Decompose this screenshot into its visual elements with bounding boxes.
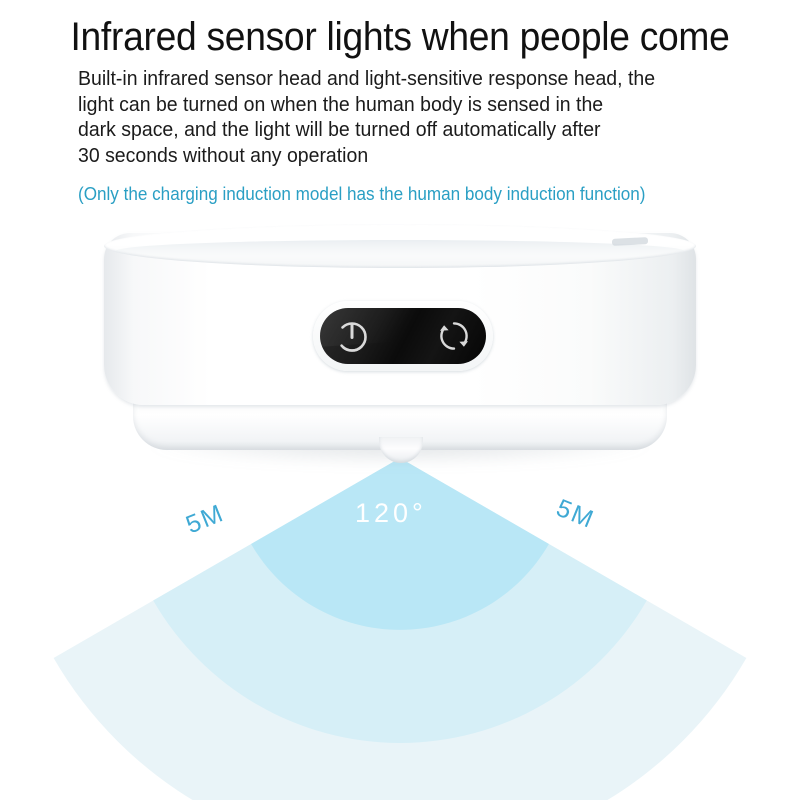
refresh-cycle-icon: [433, 315, 475, 357]
middle-zone-sector: [153, 458, 647, 743]
description-paragraph: Built-in infrared sensor head and light-…: [78, 66, 734, 168]
power-button[interactable]: [331, 315, 373, 357]
device-top-rim: [104, 224, 696, 268]
device-base: [133, 372, 667, 450]
device-brand-mark: [612, 237, 648, 246]
description-line: 30 seconds without any operation: [78, 143, 734, 169]
induction-model-note: (Only the charging induction model has t…: [78, 183, 646, 205]
description-line: dark space, and the light will be turned…: [78, 117, 734, 143]
range-label-left: 5M: [182, 499, 229, 540]
description-line: light can be turned on when the human bo…: [78, 92, 734, 118]
description-line: Built-in infrared sensor head and light-…: [78, 66, 734, 92]
infrared-sensor-dome: [379, 437, 423, 463]
control-panel[interactable]: [320, 308, 486, 364]
device-drop-shadow: [150, 425, 650, 465]
page-title: Infrared sensor lights when people come: [28, 14, 772, 60]
outer-zone-sector: [54, 458, 747, 800]
product-feature-page: Infrared sensor lights when people come …: [0, 0, 800, 800]
inner-zone-sector: [251, 458, 549, 630]
range-label-right: 5M: [552, 494, 599, 535]
mode-button[interactable]: [433, 315, 475, 357]
power-icon: [331, 315, 373, 357]
detection-angle-label: 120°: [355, 498, 427, 529]
